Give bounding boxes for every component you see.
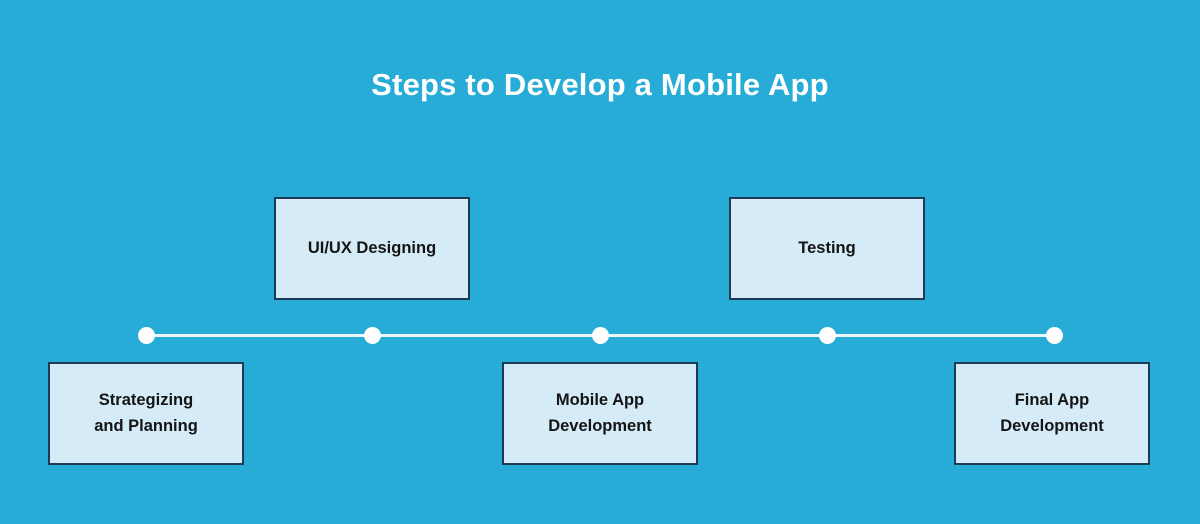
- infographic-canvas: Steps to Develop a Mobile App Strategizi…: [0, 0, 1200, 524]
- step-label-line2: Development: [548, 417, 652, 435]
- step-label: UI/UX Designing: [300, 236, 444, 262]
- timeline-node-1[interactable]: [138, 327, 155, 344]
- step-label-line2: Development: [1000, 417, 1104, 435]
- step-label: Final App Development: [992, 388, 1112, 439]
- step-label-line1: Testing: [798, 239, 855, 257]
- step-box-mobile-app-development[interactable]: Mobile App Development: [502, 362, 698, 465]
- step-label-line1: Final App: [1015, 391, 1090, 409]
- page-title: Steps to Develop a Mobile App: [0, 66, 1200, 103]
- timeline-node-4[interactable]: [819, 327, 836, 344]
- step-label-line1: Mobile App: [556, 391, 644, 409]
- timeline-node-5[interactable]: [1046, 327, 1063, 344]
- timeline-node-3[interactable]: [592, 327, 609, 344]
- step-label-line1: UI/UX Designing: [308, 239, 436, 257]
- step-box-strategizing-and-planning[interactable]: Strategizing and Planning: [48, 362, 244, 465]
- step-label-line2: and Planning: [94, 417, 198, 435]
- step-label: Strategizing and Planning: [86, 388, 206, 439]
- timeline-node-2[interactable]: [364, 327, 381, 344]
- step-box-testing[interactable]: Testing: [729, 197, 925, 300]
- step-box-final-app-development[interactable]: Final App Development: [954, 362, 1150, 465]
- step-label: Mobile App Development: [540, 388, 660, 439]
- step-label-line1: Strategizing: [99, 391, 193, 409]
- step-box-ui-ux-designing[interactable]: UI/UX Designing: [274, 197, 470, 300]
- step-label: Testing: [790, 236, 863, 262]
